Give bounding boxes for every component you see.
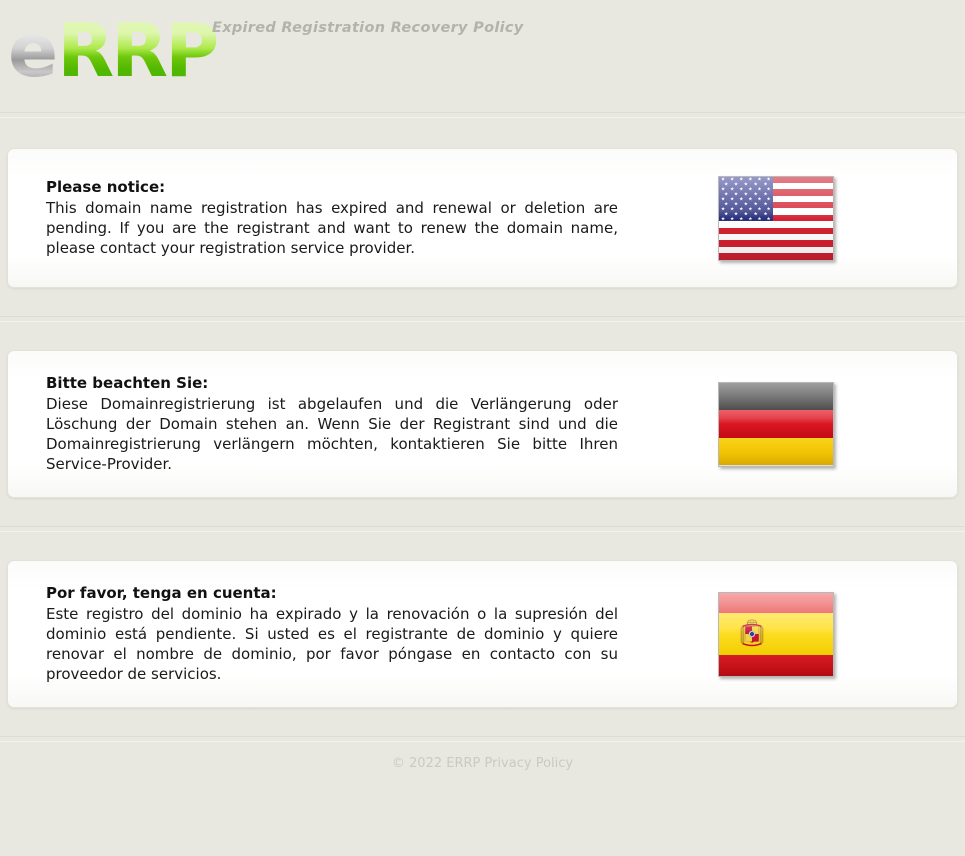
spacer-4 <box>0 532 965 560</box>
es-flag-bottom-red-band <box>719 655 833 676</box>
es-flag-yellow-band <box>719 613 833 655</box>
spacer-5 <box>0 708 965 736</box>
errp-logo[interactable]: e RRP <box>8 14 216 88</box>
flag-container-de <box>618 382 933 467</box>
notice-text-de: Bitte beachten Sie: Diese Domainregistri… <box>38 373 618 475</box>
de-flag-red-band <box>719 410 833 438</box>
spacer-3 <box>0 498 965 526</box>
notice-title-es: Por favor, tenga en cuenta: <box>46 583 618 603</box>
logo-letters-rrp: RRP <box>57 14 216 88</box>
notice-panel-de: Bitte beachten Sie: Diese Domainregistri… <box>7 350 958 498</box>
site-header: e RRP Expired Registration Recovery Poli… <box>0 0 965 112</box>
flag-container-es <box>618 592 933 677</box>
es-flag-top-red-band <box>719 593 833 614</box>
notice-panel-en: Please notice: This domain name registra… <box>7 148 958 288</box>
logo-letter-e: e <box>8 14 57 88</box>
notice-title-en: Please notice: <box>46 177 618 197</box>
us-flag-canton <box>719 177 774 222</box>
notice-body-en: This domain name registration has expire… <box>46 199 618 259</box>
notice-text-en: Please notice: This domain name registra… <box>38 177 618 259</box>
notice-body-de: Diese Domainregistrierung ist abgelaufen… <box>46 395 618 475</box>
notice-title-de: Bitte beachten Sie: <box>46 373 618 393</box>
de-flag-black-band <box>719 383 833 411</box>
page-root: e RRP Expired Registration Recovery Poli… <box>0 0 965 856</box>
notice-panel-es: Por favor, tenga en cuenta: Este registr… <box>7 560 958 708</box>
spacer-1 <box>0 288 965 316</box>
footer-copyright[interactable]: © 2022 ERRP Privacy Policy <box>392 756 573 771</box>
es-coat-of-arms-icon <box>739 617 765 650</box>
notice-body-es: Este registro del dominio ha expirado y … <box>46 605 618 685</box>
es-flag-icon <box>718 592 834 677</box>
notice-text-es: Por favor, tenga en cuenta: Este registr… <box>38 583 618 685</box>
spacer-top <box>0 118 965 148</box>
flag-container-en <box>618 176 933 261</box>
us-flag-icon <box>718 176 834 261</box>
de-flag-gold-band <box>719 438 833 466</box>
footer: © 2022 ERRP Privacy Policy <box>0 742 965 771</box>
spacer-2 <box>0 322 965 350</box>
page-subtitle: Expired Registration Recovery Policy <box>212 20 524 36</box>
de-flag-icon <box>718 382 834 467</box>
